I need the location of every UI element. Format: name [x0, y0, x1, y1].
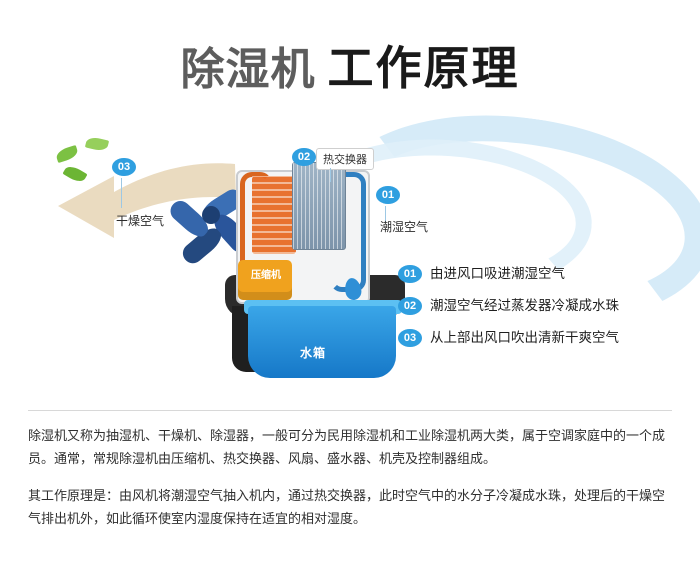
legend-item: 03从上部出风口吹出清新干爽空气 — [398, 322, 688, 354]
label-heat-exchanger: 热交换器 — [316, 148, 374, 170]
legend-badge: 02 — [398, 297, 422, 315]
badge-heat-exchanger: 02 — [292, 148, 316, 166]
legend-badge: 03 — [398, 329, 422, 347]
legend-text: 从上部出风口吹出清新干爽空气 — [430, 330, 619, 345]
leaf-icon-2 — [85, 136, 109, 153]
water-tank-label: 水箱 — [300, 344, 326, 361]
legend-text: 由进风口吸进潮湿空气 — [430, 266, 565, 281]
poster-root: 除湿机工作原理 — [0, 0, 700, 566]
compressor-label: 压缩机 — [240, 270, 292, 282]
section-divider — [28, 410, 672, 411]
evaporator — [292, 162, 346, 250]
condenser-coil — [252, 176, 296, 254]
legend-text: 潮湿空气经过蒸发器冷凝成水珠 — [430, 298, 619, 313]
description-paragraph-2: 其工作原理是：由风机将潮湿空气抽入机内，通过热交换器，此时空气中的水分子冷凝成水… — [28, 484, 676, 530]
legend-badge: 01 — [398, 265, 422, 283]
label-dry-air: 干燥空气 — [116, 212, 164, 229]
description-text: 除湿机又称为抽湿机、干燥机、除湿器，一般可分为民用除湿机和工业除湿机两大类，属于… — [28, 424, 676, 530]
legend-item: 02潮湿空气经过蒸发器冷凝成水珠 — [398, 290, 688, 322]
badge-dry-air: 03 — [112, 158, 136, 176]
leader-line-dry-air — [121, 178, 122, 208]
badge-humid-air: 01 — [376, 186, 400, 204]
fan-hub — [202, 206, 220, 224]
page-title-black: 工作原理 — [328, 42, 520, 94]
page-title-gray: 除湿机 — [181, 45, 316, 94]
description-paragraph-1: 除湿机又称为抽湿机、干燥机、除湿器，一般可分为民用除湿机和工业除湿机两大类，属于… — [28, 424, 676, 470]
coil-fins — [252, 176, 296, 254]
steps-legend: 01由进风口吸进潮湿空气 02潮湿空气经过蒸发器冷凝成水珠 03从上部出风口吹出… — [398, 258, 688, 354]
water-tank — [248, 306, 396, 378]
page-title: 除湿机工作原理 — [0, 32, 700, 98]
leader-line-heat-exchanger — [330, 168, 331, 182]
evaporator-fins — [293, 163, 345, 249]
legend-item: 01由进风口吸进潮湿空气 — [398, 258, 688, 290]
label-humid-air: 潮湿空气 — [380, 218, 428, 235]
